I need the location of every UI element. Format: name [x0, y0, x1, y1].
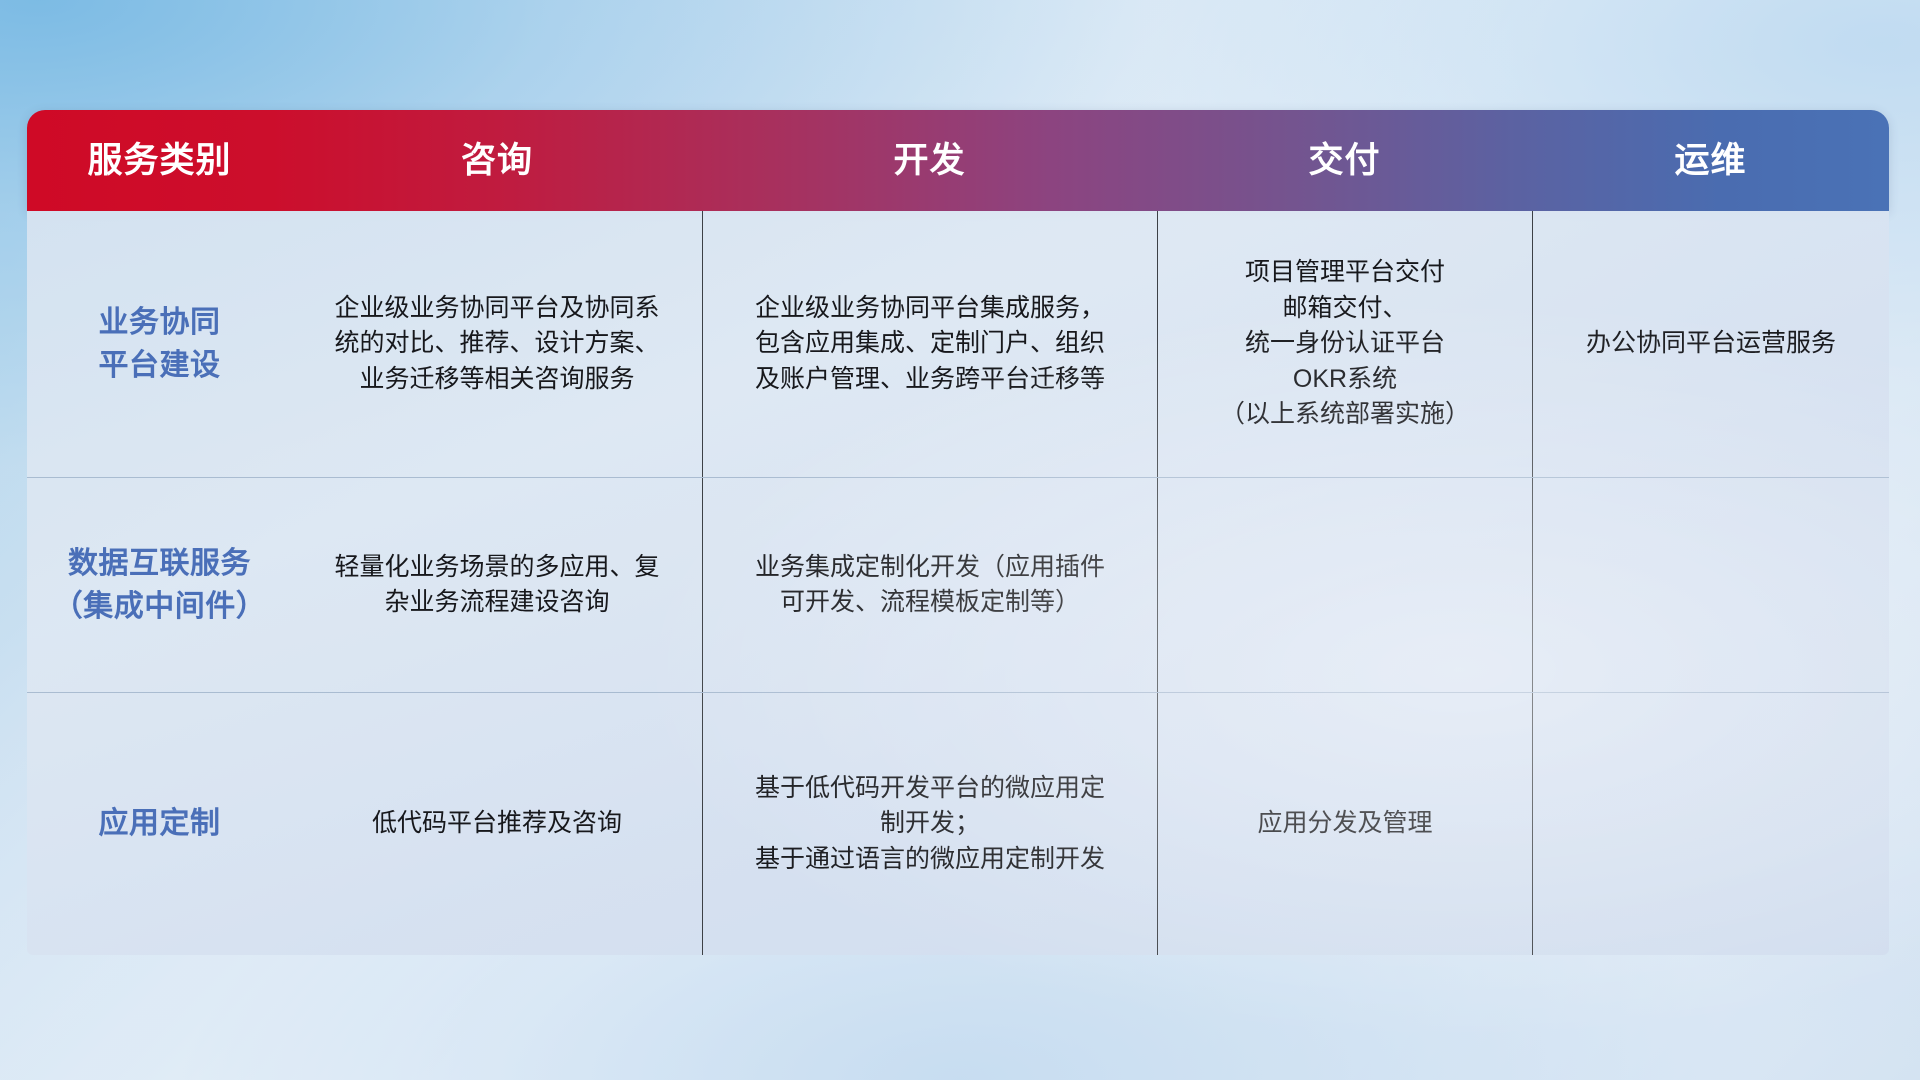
cell-category: 应用定制 — [27, 693, 292, 955]
table-row: 数据互联服务 （集成中间件） 轻量化业务场景的多应用、复 杂业务流程建设咨询 业… — [27, 477, 1889, 692]
table-row: 业务协同 平台建设 企业级业务协同平台及协同系 统的对比、推荐、设计方案、 业务… — [27, 211, 1889, 477]
cell-operations: 办公协同平台运营服务 — [1532, 211, 1889, 477]
cell-delivery: 应用分发及管理 — [1157, 693, 1532, 955]
cell-development: 业务集成定制化开发（应用插件 可开发、流程模板定制等） — [702, 478, 1157, 692]
column-header-operations: 运维 — [1532, 143, 1889, 178]
table-header-row: 服务类别 咨询 开发 交付 运维 — [27, 110, 1889, 211]
cell-operations — [1532, 478, 1889, 692]
cell-delivery — [1157, 478, 1532, 692]
column-header-delivery: 交付 — [1157, 143, 1532, 178]
cell-consulting: 轻量化业务场景的多应用、复 杂业务流程建设咨询 — [292, 478, 702, 692]
cell-development: 基于低代码开发平台的微应用定 制开发； 基于通过语言的微应用定制开发 — [702, 693, 1157, 955]
column-header-category: 服务类别 — [27, 143, 292, 178]
table-row: 应用定制 低代码平台推荐及咨询 基于低代码开发平台的微应用定 制开发； 基于通过… — [27, 692, 1889, 955]
service-matrix-table: 服务类别 咨询 开发 交付 运维 业务协同 平台建设 企业级业务协同平台及协同系… — [27, 110, 1889, 955]
table-body: 业务协同 平台建设 企业级业务协同平台及协同系 统的对比、推荐、设计方案、 业务… — [27, 211, 1889, 955]
column-header-consulting: 咨询 — [292, 143, 702, 178]
cell-category: 数据互联服务 （集成中间件） — [27, 478, 292, 692]
slide-canvas: 服务类别 咨询 开发 交付 运维 业务协同 平台建设 企业级业务协同平台及协同系… — [0, 0, 1920, 1080]
cell-category: 业务协同 平台建设 — [27, 211, 292, 477]
cell-operations — [1532, 693, 1889, 955]
cell-delivery: 项目管理平台交付 邮箱交付、 统一身份认证平台 OKR系统 （以上系统部署实施） — [1157, 211, 1532, 477]
cell-development: 企业级业务协同平台集成服务， 包含应用集成、定制门户、组织 及账户管理、业务跨平… — [702, 211, 1157, 477]
cell-consulting: 低代码平台推荐及咨询 — [292, 693, 702, 955]
column-header-development: 开发 — [702, 143, 1157, 178]
cell-consulting: 企业级业务协同平台及协同系 统的对比、推荐、设计方案、 业务迁移等相关咨询服务 — [292, 211, 702, 477]
